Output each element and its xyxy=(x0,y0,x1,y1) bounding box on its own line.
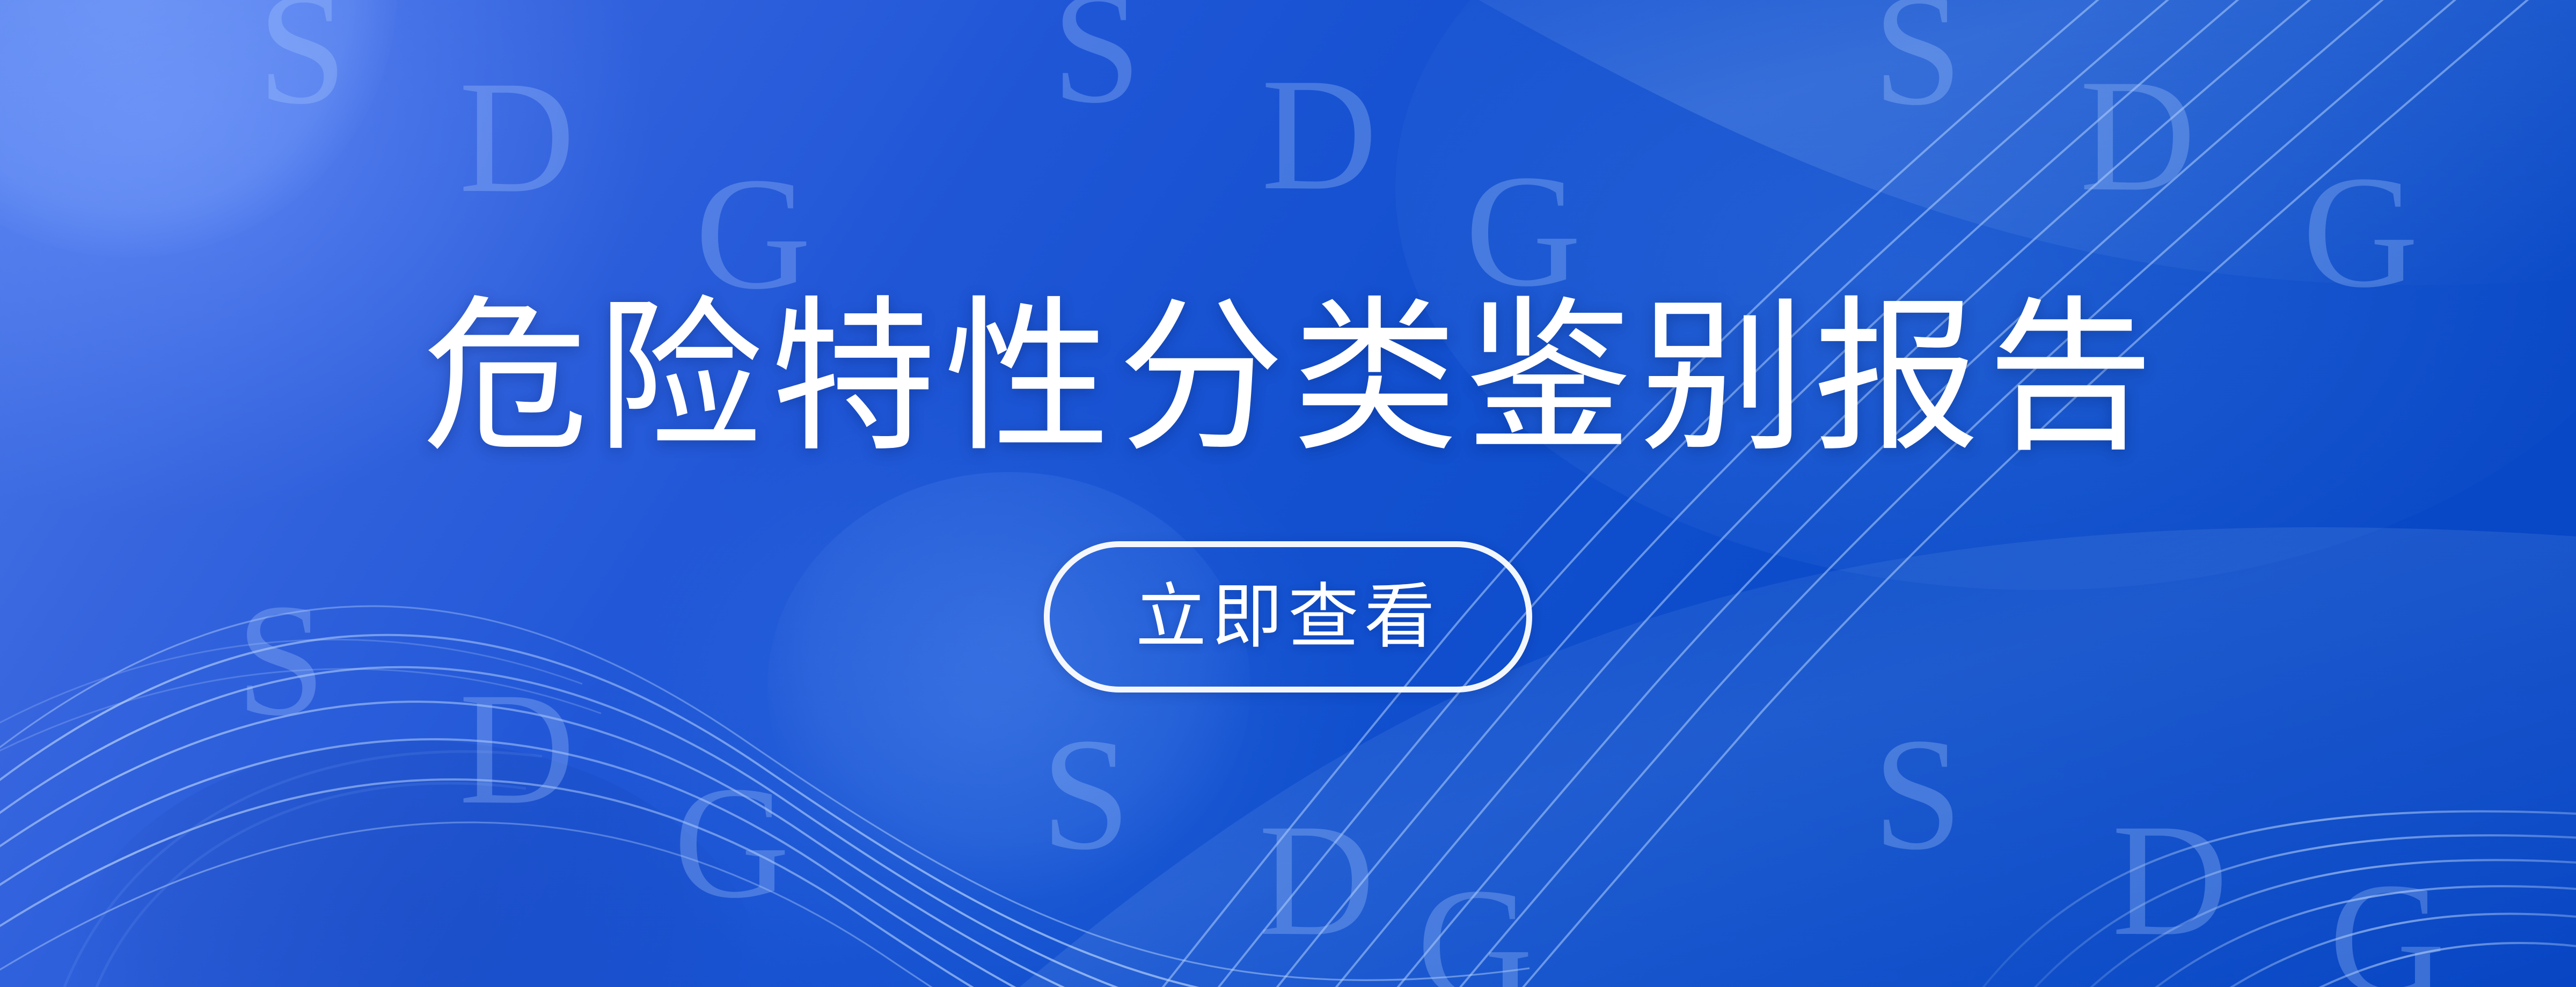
banner-content: 危险特性分类鉴别报告 立即查看 xyxy=(0,0,2576,987)
view-now-button-label: 立即查看 xyxy=(1136,581,1440,652)
promo-banner: SDGSDGSDGSDGSDGSDG 危险特性分类鉴别报告 立即查看 xyxy=(0,0,2576,987)
page-title: 危险特性分类鉴别报告 xyxy=(422,294,2161,461)
view-now-button[interactable]: 立即查看 xyxy=(1044,541,1532,693)
